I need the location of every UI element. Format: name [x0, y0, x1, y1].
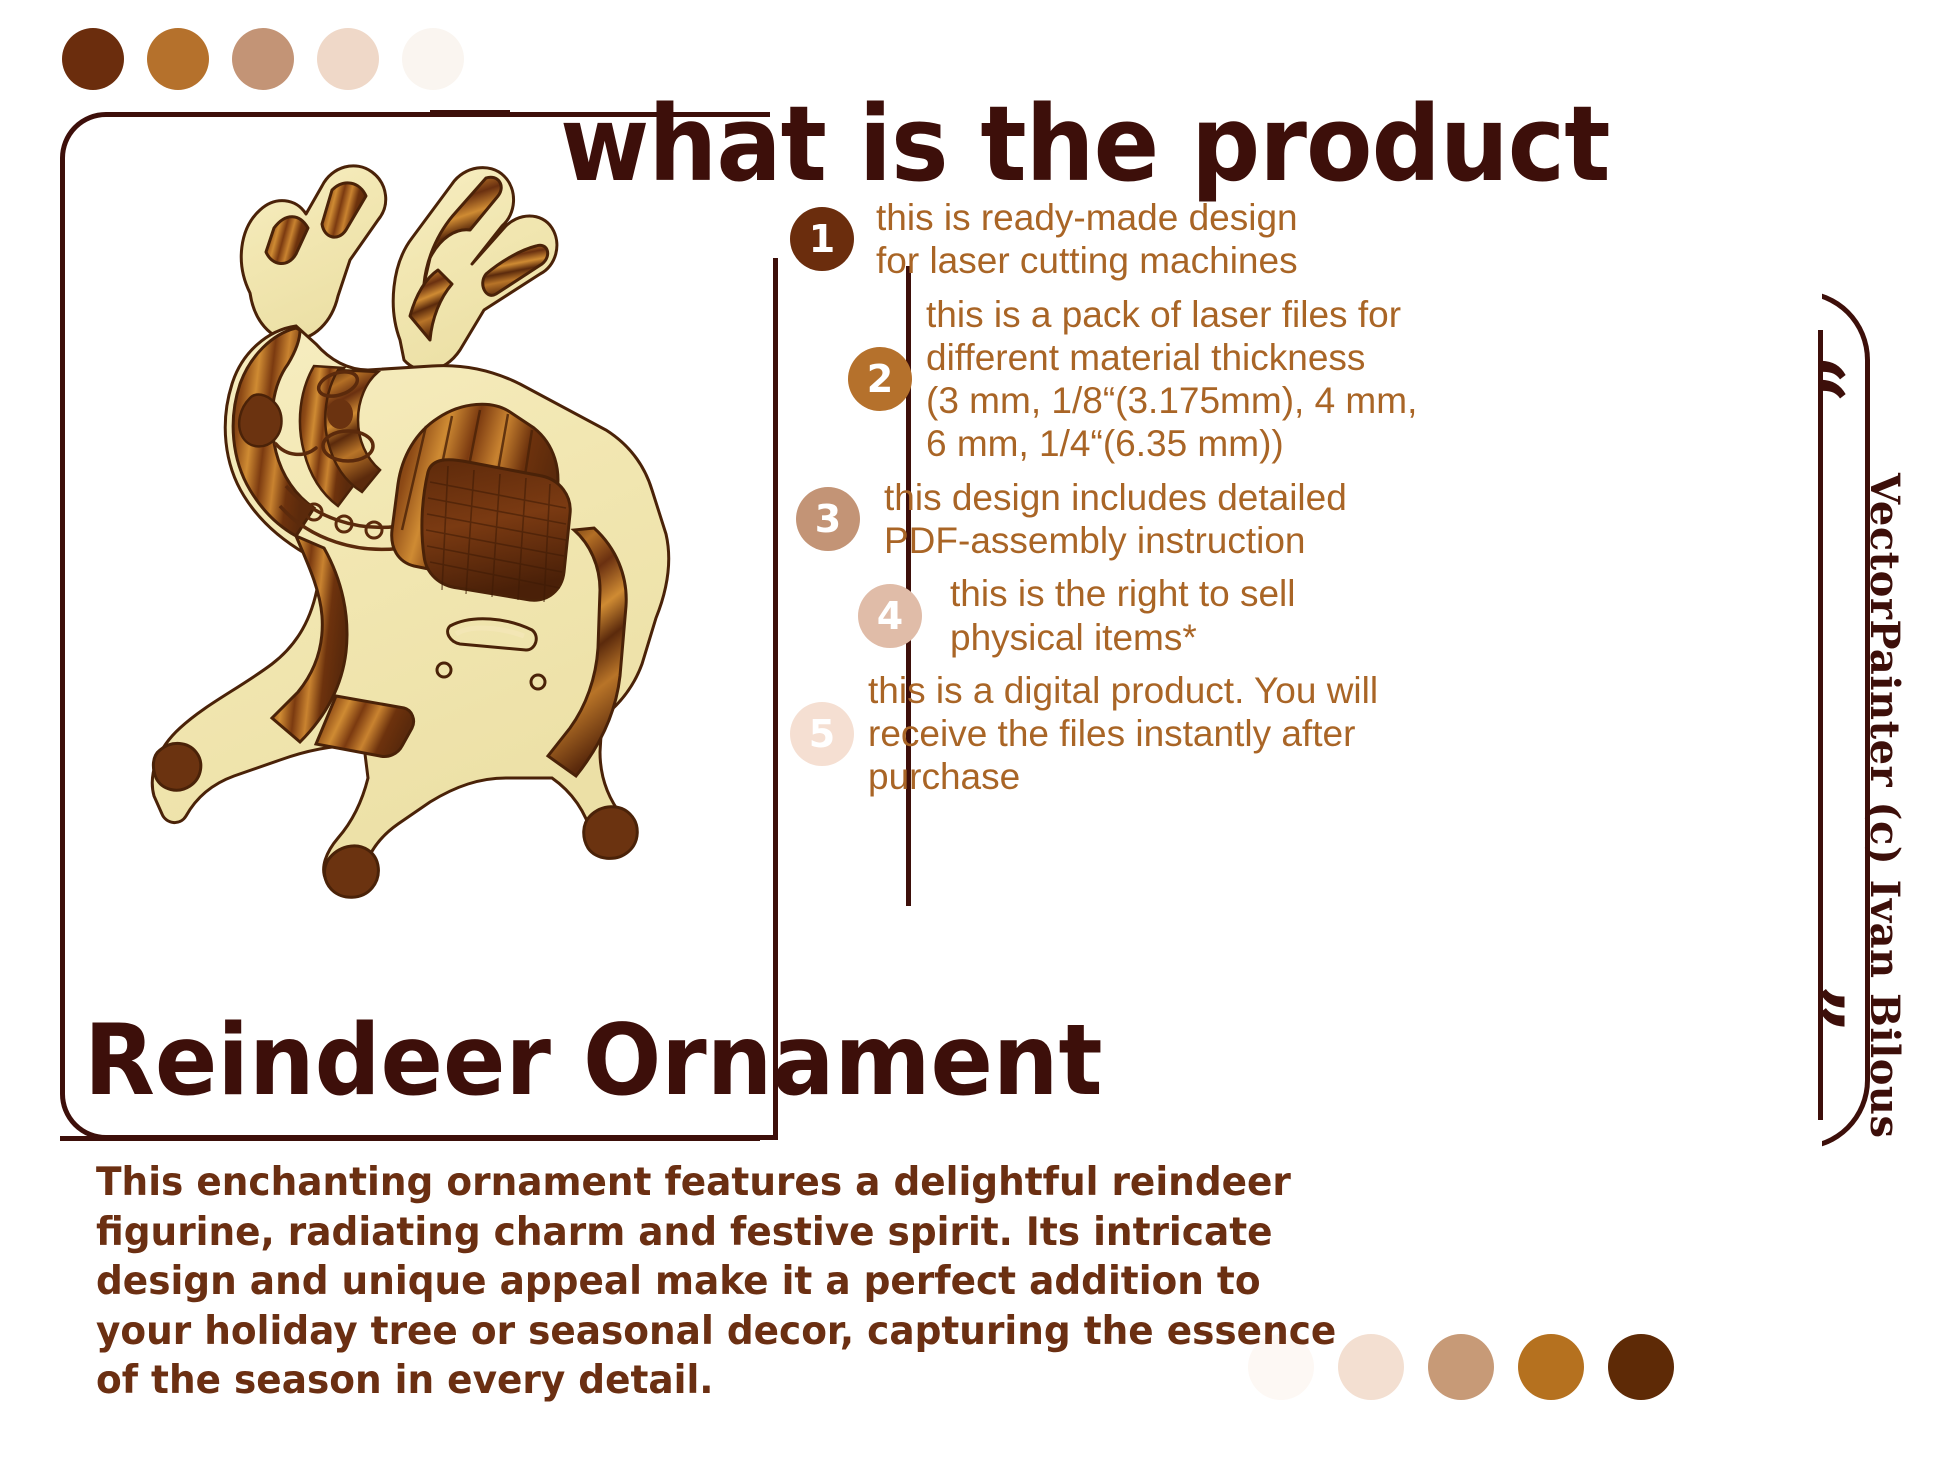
feature-badge-2: 2	[848, 347, 912, 411]
palette-swatch	[232, 28, 294, 90]
feature-badge-3: 3	[796, 487, 860, 551]
feature-text-5: this is a digital product. You will rece…	[868, 669, 1378, 799]
palette-swatch	[1608, 1334, 1674, 1400]
feature-text-2: this is a pack of laser files for differ…	[926, 293, 1417, 466]
palette-swatch	[1428, 1334, 1494, 1400]
palette-swatches-top	[62, 28, 464, 90]
bottom-divider-rule	[60, 1136, 760, 1141]
feature-text-4: this is the right to sell physical items…	[950, 572, 1295, 659]
feature-badge-5: 5	[790, 702, 854, 766]
feature-item: 4 this is the right to sell physical ite…	[858, 572, 1490, 659]
quote-open-icon: “	[1770, 355, 1854, 403]
product-title: Reindeer Ornament	[84, 1012, 1103, 1110]
feature-badge-1: 1	[790, 207, 854, 271]
signature-name: VectorPainter (c) Ivan Bilous	[1861, 473, 1908, 1139]
reindeer-ornament-illustration	[100, 78, 800, 938]
feature-list: 1 this is ready-made design for laser cu…	[790, 196, 1490, 809]
feature-item: 3 this design includes detailed PDF-asse…	[796, 476, 1490, 563]
feature-item: 1 this is ready-made design for laser cu…	[790, 196, 1490, 283]
feature-badge-4: 4	[858, 584, 922, 648]
feature-text-1: this is ready-made design for laser cutt…	[876, 196, 1298, 283]
palette-swatch	[62, 28, 124, 90]
signature-watermark: “ VectorPainter (c) Ivan Bilous ”	[1846, 345, 1926, 1085]
palette-swatch	[1338, 1334, 1404, 1400]
product-description: This enchanting ornament features a deli…	[96, 1158, 1344, 1406]
palette-swatch	[317, 28, 379, 90]
feature-item: 2 this is a pack of laser files for diff…	[848, 293, 1490, 466]
palette-swatch	[402, 28, 464, 90]
quote-close-icon: ”	[1770, 985, 1854, 1033]
feature-text-3: this design includes detailed PDF-assemb…	[884, 476, 1347, 563]
page-title: what is the product	[560, 92, 1610, 196]
palette-swatch	[1518, 1334, 1584, 1400]
palette-swatch	[147, 28, 209, 90]
feature-item: 5 this is a digital product. You will re…	[790, 669, 1490, 799]
